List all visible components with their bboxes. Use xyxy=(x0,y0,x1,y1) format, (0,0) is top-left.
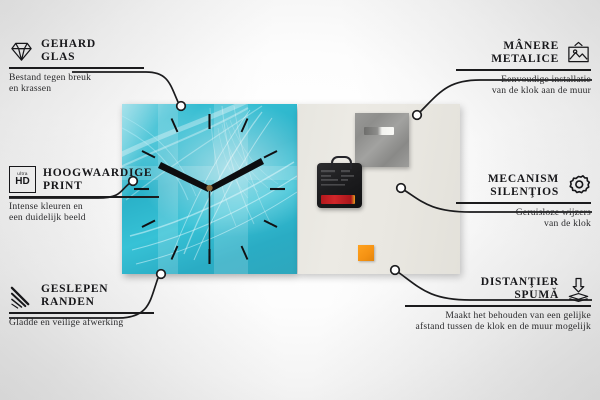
infographic-canvas: GEHARD GLAS Bestand tegen breuk en krass… xyxy=(0,0,600,400)
callout-desc-line2: een duidelijk beeld xyxy=(9,212,159,223)
callout-desc-line2: afstand tussen de klok en de muur mogeli… xyxy=(405,321,591,332)
callout-title-line1: GESLEPEN xyxy=(41,283,108,296)
diamond-icon xyxy=(9,39,34,64)
callout-desc-line1: Bestand tegen breuk xyxy=(9,72,144,83)
gear-icon xyxy=(566,174,591,199)
callout-rule xyxy=(9,312,154,314)
ultra-hd-icon: ultra HD xyxy=(9,166,36,193)
foam-spacer-part xyxy=(358,245,374,261)
clock-back-panel xyxy=(298,104,460,274)
callout-desc-line2: van de klok aan de muur xyxy=(456,85,591,96)
callout-title-line2: METALICE xyxy=(491,53,559,66)
callout-desc-line1: Gladde en veilige afwerking xyxy=(9,317,154,328)
callout-title-line1: DISTANŢIER xyxy=(481,276,559,289)
product-image xyxy=(122,104,460,274)
metal-hanger-plate xyxy=(355,113,409,167)
callout-title-line2: GLAS xyxy=(41,51,96,64)
callout-title-line1: GEHARD xyxy=(41,38,96,51)
callout-desc-line1: Geruisloze wijzers xyxy=(456,207,591,218)
ultra-hd-icon-large-text: HD xyxy=(15,177,29,187)
callout-desc-line1: Eenvoudige installatie xyxy=(456,74,591,85)
picture-frame-icon xyxy=(566,41,591,66)
callout-title-line2: RANDEN xyxy=(41,296,108,309)
mechanism-label-lines xyxy=(321,168,357,193)
callout-title-line2: SPUMĂ xyxy=(481,289,559,302)
diagonal-lines-icon xyxy=(9,284,34,309)
callout-title-line1: MÂNERE xyxy=(491,40,559,53)
callout-desc-line2: van de klok xyxy=(456,218,591,229)
hanger-keyhole-slot xyxy=(364,127,394,135)
callout-polished-edges[interactable]: GESLEPEN RANDEN Gladde en veilige afwerk… xyxy=(9,283,154,328)
callout-metal-handles[interactable]: MÂNERE METALICE Eenvoudige installatie v… xyxy=(456,40,591,96)
callout-desc-line1: Intense kleuren en xyxy=(9,201,159,212)
arrow-down-layers-icon xyxy=(566,277,591,302)
callout-rule xyxy=(456,202,591,204)
callout-silent-mechanism[interactable]: MECANISM SILENŢIOS Geruisloze wijzers va… xyxy=(456,173,591,229)
callout-tempered-glass[interactable]: GEHARD GLAS Bestand tegen breuk en krass… xyxy=(9,38,144,94)
callout-title-line2: PRINT xyxy=(43,180,152,193)
callout-title-line1: HOOGWAARDIGE xyxy=(43,167,152,180)
callout-rule xyxy=(9,67,144,69)
silent-clock-mechanism xyxy=(317,163,362,208)
callout-foam-spacer[interactable]: DISTANŢIER SPUMĂ Maakt het behouden van … xyxy=(405,276,591,332)
callout-rule xyxy=(456,69,591,71)
callout-desc-line2: en krassen xyxy=(9,83,144,94)
callout-rule xyxy=(405,305,591,307)
callout-desc-line1: Maakt het behouden van een gelijke xyxy=(405,310,591,321)
callout-title-line2: SILENŢIOS xyxy=(488,186,559,199)
callout-title-line1: MECANISM xyxy=(488,173,559,186)
callout-high-quality-print[interactable]: ultra HD HOOGWAARDIGE PRINT Intense kleu… xyxy=(9,166,159,223)
mechanism-battery xyxy=(321,195,355,204)
callout-rule xyxy=(9,196,159,198)
